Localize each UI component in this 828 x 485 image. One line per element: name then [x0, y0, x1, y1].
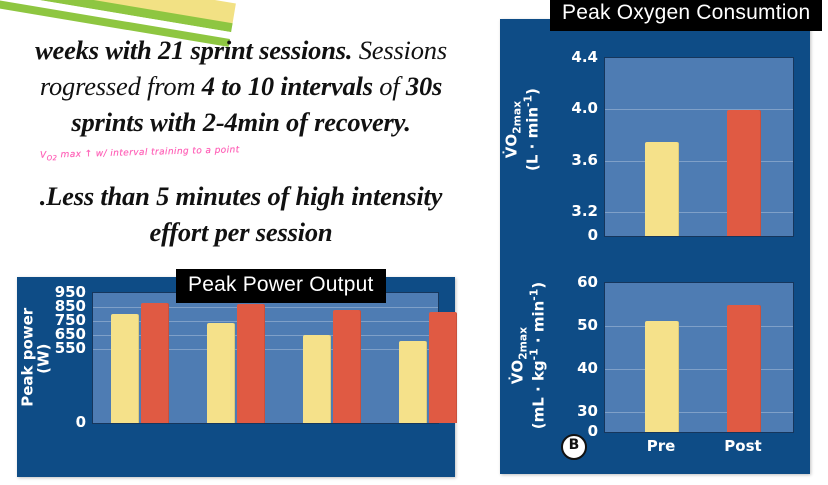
- y-tick-label: 3.6: [500, 151, 598, 169]
- bar-Post-1: [727, 305, 761, 432]
- x-tick-label: Pre: [630, 437, 692, 455]
- p1-line2-regular-b: of: [373, 71, 406, 101]
- peak-power-title: Peak Power Output: [188, 273, 374, 296]
- p1-line1-bold: weeks with 21 sprint sessions.: [35, 35, 352, 65]
- x-tick-label: Post: [712, 437, 774, 455]
- slide-canvas: weeks with 21 sprint sessions. Sessions …: [0, 0, 828, 485]
- peak-power-bars: [93, 293, 438, 423]
- handwriting-subscript: O2: [47, 154, 58, 162]
- paragraph-one: weeks with 21 sprint sessions. Sessions …: [0, 32, 496, 140]
- bar-Post-1: [727, 110, 761, 236]
- chart-panel-peak-oxygen: V̇O2max(L · min-1) 03.23.64.04.4 V̇O2max…: [500, 19, 810, 474]
- y-tick-label: 40: [500, 359, 598, 377]
- y-tick-label: 60: [500, 273, 598, 291]
- peak-oxygen-title-banner: Peak Oxygen Consumtion: [550, 0, 822, 31]
- bar-Pre-0: [645, 142, 679, 236]
- p1-line2-bold-a: 4 to 10 intervals: [202, 71, 373, 101]
- bar-Post-5: [333, 310, 361, 423]
- y-tick-label: 0: [500, 226, 598, 244]
- y-tick-label: 950: [17, 283, 86, 301]
- bar-Post-7: [429, 312, 457, 423]
- bar-Pre-2: [207, 323, 235, 423]
- p1-line2-bold-b: 30s: [406, 71, 442, 101]
- vo2-relative-plot-area: [604, 282, 794, 433]
- paragraph-two-line-1: .Less than 5 minutes of high intensity: [0, 178, 496, 214]
- bar-Post-3: [237, 304, 265, 423]
- p1-line2-regular-a: rogressed from: [40, 71, 202, 101]
- paragraph-two-line-2: effort per session: [0, 214, 496, 250]
- paragraph-one-line-1: weeks with 21 sprint sessions. Sessions: [0, 32, 496, 68]
- bar-Post-1: [141, 303, 169, 423]
- y-tick-label: 4.4: [500, 48, 598, 66]
- handwriting-body: max ↑ w/ interval training to a point: [57, 145, 240, 160]
- vo2-absolute-plot-area: [604, 57, 794, 237]
- bar-Pre-0: [111, 314, 139, 423]
- vo2-relative-bars: [605, 283, 793, 432]
- peak-power-plot-area: [92, 292, 439, 424]
- y-tick-label: 50: [500, 316, 598, 334]
- bar-Pre-0: [645, 321, 679, 432]
- handwritten-annotation: VO2 max ↑ w/ interval training to a poin…: [40, 145, 240, 162]
- peak-power-title-banner: Peak Power Output: [176, 269, 386, 303]
- paragraph-one-line-2: rogressed from 4 to 10 intervals of 30s: [0, 68, 496, 104]
- y-tick-label: 0: [17, 413, 86, 431]
- paragraph-two: .Less than 5 minutes of high intensity e…: [0, 178, 496, 250]
- paragraph-one-line-3: sprints with 2-4min of recovery.: [0, 104, 496, 140]
- bar-Pre-4: [303, 335, 331, 423]
- chart-panel-peak-power: Peak power (W) 0550650750850950 Peak Pow…: [17, 277, 455, 477]
- y-tick-label: 3.2: [500, 202, 598, 220]
- y-tick-label: 4.0: [500, 99, 598, 117]
- vo2-absolute-bars: [605, 58, 793, 236]
- p1-line1-regular: Sessions: [352, 35, 447, 65]
- ribbon-yellow-band: [0, 0, 236, 25]
- peak-oxygen-title: Peak Oxygen Consumtion: [562, 1, 810, 24]
- bar-Pre-6: [399, 341, 427, 423]
- y-tick-label: 30: [500, 402, 598, 420]
- panel-label-b: B: [561, 434, 587, 460]
- ribbon-green-band-1: [0, 0, 233, 32]
